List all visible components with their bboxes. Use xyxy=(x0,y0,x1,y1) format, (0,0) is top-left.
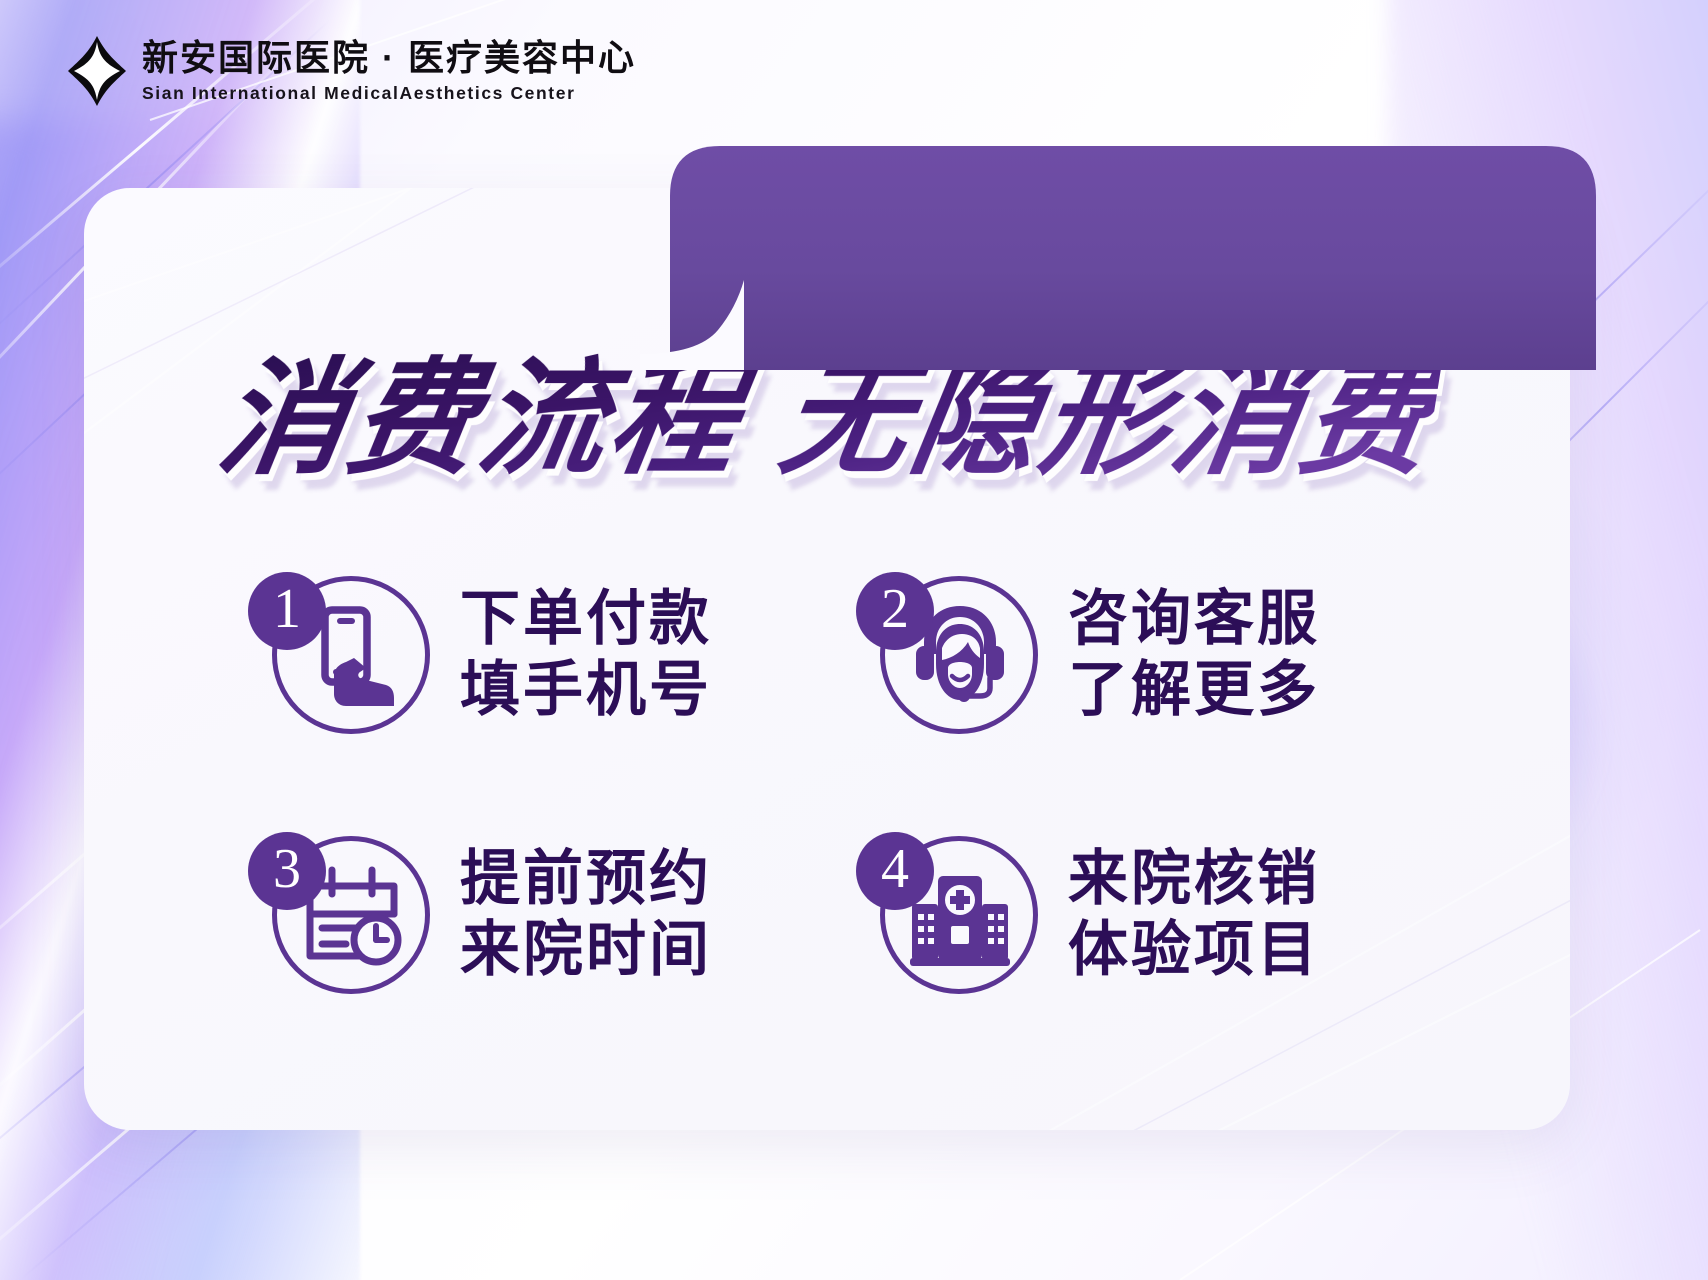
step-line1: 咨询客服 xyxy=(1068,584,1320,655)
step-icon-wrap: 4 xyxy=(856,822,1042,1008)
step-line1: 来院核销 xyxy=(1068,844,1320,915)
step-label: 提前预约 来院时间 xyxy=(460,844,712,986)
step-line2: 体验项目 xyxy=(1068,915,1320,986)
step-label: 咨询客服 了解更多 xyxy=(1068,584,1320,726)
step-label: 下单付款 填手机号 xyxy=(460,584,712,726)
step-item: 3 xyxy=(248,820,828,1010)
step-line1: 提前预约 xyxy=(460,844,712,915)
step-line1: 下单付款 xyxy=(460,584,712,655)
step-item: 4 xyxy=(856,820,1436,1010)
diamond-sparkle-logo-icon xyxy=(66,34,128,108)
headline: 消费流程无隐形消费 xyxy=(84,352,1570,486)
step-number-badge: 2 xyxy=(856,572,934,650)
step-number: 4 xyxy=(881,841,909,901)
step-icon-wrap: 2 xyxy=(856,562,1042,748)
steps-grid: 1 下单付款 填手机号 2 xyxy=(248,560,1438,1010)
step-number: 2 xyxy=(881,581,909,641)
step-number-badge: 1 xyxy=(248,572,326,650)
step-item: 1 下单付款 填手机号 xyxy=(248,560,828,750)
step-line2: 了解更多 xyxy=(1068,655,1320,726)
step-number-badge: 4 xyxy=(856,832,934,910)
step-icon-wrap: 1 xyxy=(248,562,434,748)
step-icon-wrap: 3 xyxy=(248,822,434,1008)
poster-canvas: 新安国际医院 · 医疗美容中心 Sian International Medic… xyxy=(0,0,1708,1280)
brand-logo: 新安国际医院 · 医疗美容中心 Sian International Medic… xyxy=(66,34,636,108)
folder-tab xyxy=(640,140,1600,370)
step-number-badge: 3 xyxy=(248,832,326,910)
step-line2: 填手机号 xyxy=(460,655,712,726)
step-number: 1 xyxy=(273,581,301,641)
step-line2: 来院时间 xyxy=(460,915,712,986)
step-item: 2 咨询客服 了解更多 xyxy=(856,560,1436,750)
step-label: 来院核销 体验项目 xyxy=(1068,844,1320,986)
headline-text: 消费流程无隐形消费 xyxy=(210,352,1443,486)
brand-name-en: Sian International MedicalAesthetics Cen… xyxy=(142,85,636,103)
step-number: 3 xyxy=(273,841,301,901)
brand-name-cn: 新安国际医院 · 医疗美容中心 xyxy=(142,40,636,76)
